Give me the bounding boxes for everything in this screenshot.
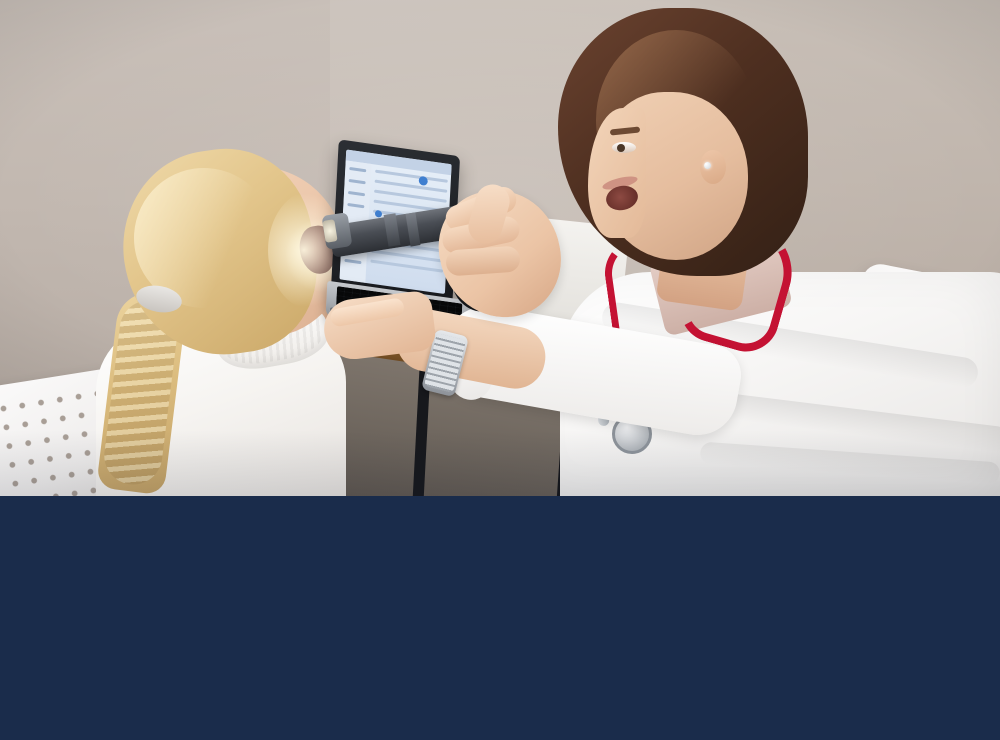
doctor-pupil	[617, 144, 625, 152]
promo-banner-image: ДИСТАНЦИОННОЕ ОБУЧЕНИЕ Проходит без отры…	[0, 0, 1000, 740]
doctor-finger-3	[445, 245, 521, 276]
text-banner: ДИСТАНЦИОННОЕ ОБУЧЕНИЕ Проходит без отры…	[0, 496, 1000, 740]
photo-scene	[0, 0, 1000, 497]
earring-icon	[704, 162, 711, 169]
photo-bottom-shading	[0, 430, 1000, 497]
